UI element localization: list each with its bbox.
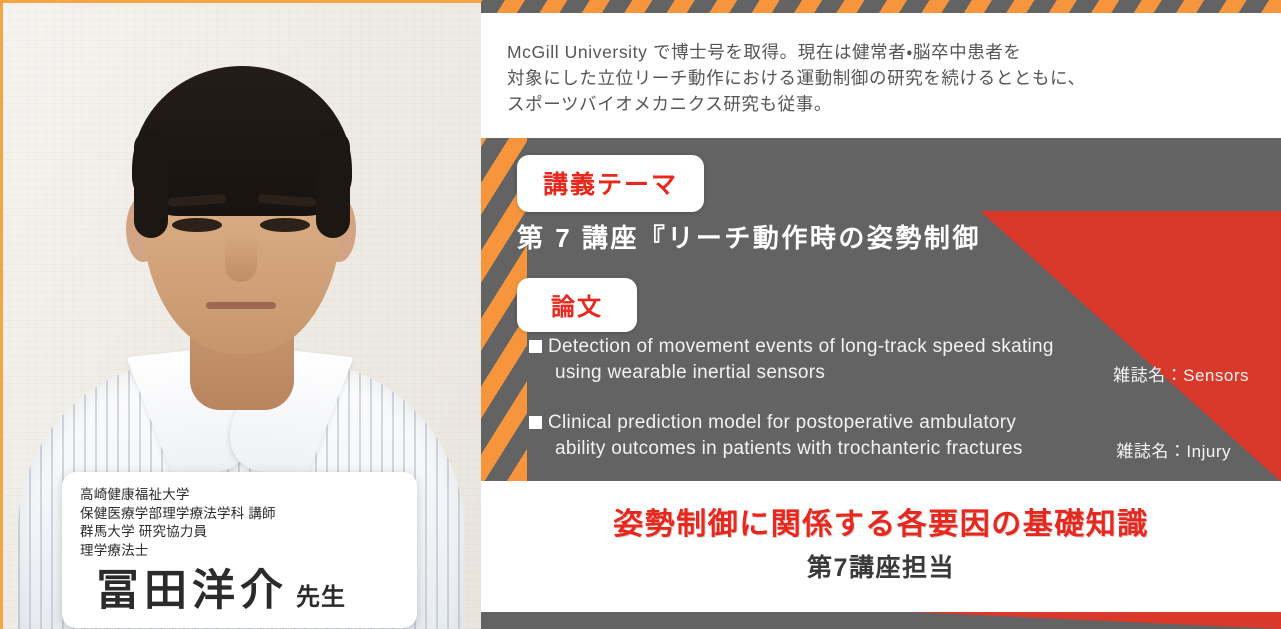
intro-line-3: スポーツバイオメカニクス研究も従事。 xyxy=(507,91,1251,117)
lecturer-intro-block: McGill University で博士号を取得。現在は健常者・脳卒中患者を … xyxy=(481,13,1281,138)
paper-journal-1-label: 雑誌名： xyxy=(1113,366,1183,385)
top-striped-divider xyxy=(481,0,1281,13)
bottom-accent-bar-red-section xyxy=(911,612,1281,629)
intro-line-1: McGill University で博士号を取得。現在は健常者・脳卒中患者を xyxy=(507,39,1251,65)
portrait-eye-left xyxy=(172,218,222,232)
lecture-theme-panel: 講義テーマ 第 7 講座『リーチ動作時の姿勢制御 論文 Detection of… xyxy=(481,138,1281,481)
affiliation-line-1: 高崎健康福祉大学 xyxy=(80,486,399,505)
square-bullet-icon xyxy=(529,416,542,429)
lecturer-name-card: 高崎健康福祉大学 保健医療学部理学療法学科 講師 群馬大学 研究協力員 理学療法… xyxy=(62,472,417,628)
lecturer-name-row: 冨田洋介 先生 xyxy=(80,566,399,616)
headline-band: 姿勢制御に関係する各要因の基礎知識 第7講座担当 xyxy=(481,481,1281,612)
intro-line-2: 対象にした立位リーチ動作における運動制御の研究を続けるとともに、 xyxy=(507,65,1251,91)
affiliation-line-4: 理学療法士 xyxy=(80,542,399,561)
lecturer-name: 冨田洋介 xyxy=(96,566,288,616)
portrait-hair-side-right xyxy=(316,130,350,238)
affiliation-line-3: 群馬大学 研究協力員 xyxy=(80,523,399,542)
lecturer-honorific: 先生 xyxy=(296,577,346,612)
lecture-title: 第 7 講座『リーチ動作時の姿勢制御 xyxy=(517,218,981,255)
content-column: McGill University で博士号を取得。現在は健常者・脳卒中患者を … xyxy=(481,0,1281,629)
headline-sub: 第7講座担当 xyxy=(481,551,1281,585)
lecture-theme-content: 講義テーマ 第 7 講座『リーチ動作時の姿勢制御 論文 Detection of… xyxy=(481,138,1281,481)
square-bullet-icon xyxy=(529,340,542,353)
paper-journal-2: 雑誌名：Injury xyxy=(1116,437,1231,462)
paper-journal-1-name: Sensors xyxy=(1183,366,1249,385)
affiliation-line-2: 保健医療学部理学療法学科 講師 xyxy=(80,505,399,524)
portrait-hair-side-left xyxy=(134,130,168,238)
photo-top-accent-line xyxy=(0,0,481,3)
paper-journal-2-name: Injury xyxy=(1186,442,1231,461)
paper-list: Detection of movement events of long-tra… xyxy=(529,334,1259,481)
portrait-eye-right xyxy=(260,218,310,232)
headline-main: 姿勢制御に関係する各要因の基礎知識 xyxy=(481,505,1281,545)
lecture-theme-badge: 講義テーマ xyxy=(517,155,704,212)
bottom-accent-bar xyxy=(481,612,1281,629)
slide-root: 高崎健康福祉大学 保健医療学部理学療法学科 講師 群馬大学 研究協力員 理学療法… xyxy=(0,0,1281,629)
paper-journal-2-label: 雑誌名： xyxy=(1116,442,1186,461)
paper-journal-1: 雑誌名：Sensors xyxy=(1113,361,1249,386)
lecturer-photo-panel: 高崎健康福祉大学 保健医療学部理学療法学科 講師 群馬大学 研究協力員 理学療法… xyxy=(0,0,481,629)
portrait-mouth xyxy=(206,302,276,309)
photo-left-accent-line xyxy=(0,0,3,629)
portrait-nose xyxy=(225,236,257,282)
papers-badge: 論文 xyxy=(517,278,637,332)
paper-list-item: Detection of movement events of long-tra… xyxy=(529,334,1259,386)
paper-title-1-line-1: Detection of movement events of long-tra… xyxy=(548,336,1054,357)
paper-list-item: Clinical prediction model for postoperat… xyxy=(529,410,1259,462)
paper-title-2-line-1: Clinical prediction model for postoperat… xyxy=(548,412,1016,433)
